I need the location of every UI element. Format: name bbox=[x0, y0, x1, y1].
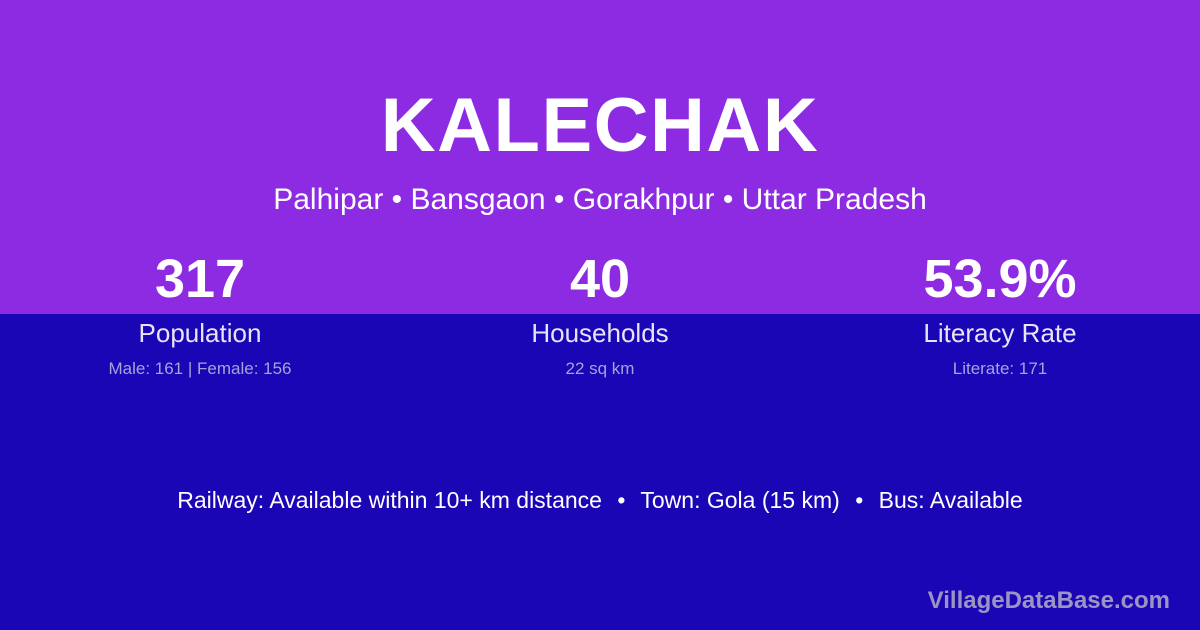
amenity-railway: Railway: Available within 10+ km distanc… bbox=[177, 487, 602, 513]
population-label: Population bbox=[139, 316, 262, 350]
village-info-card: KALECHAK Palhipar • Bansgaon • Gorakhpur… bbox=[0, 0, 1200, 630]
site-watermark: VillageDataBase.com bbox=[928, 586, 1170, 616]
literacy-rate-label: Literacy Rate bbox=[923, 316, 1076, 350]
amenities-summary: Railway: Available within 10+ km distanc… bbox=[0, 484, 1200, 516]
breadcrumb: Palhipar • Bansgaon • Gorakhpur • Uttar … bbox=[0, 180, 1200, 220]
literate-count: Literate: 171 bbox=[953, 356, 1048, 382]
stats-strip: 317 Population Male: 161 | Female: 156 4… bbox=[0, 244, 1200, 384]
page-title: KALECHAK bbox=[0, 82, 1200, 170]
households-value: 40 bbox=[570, 244, 630, 314]
literacy-rate-value: 53.9% bbox=[923, 244, 1076, 314]
population-value: 317 bbox=[155, 244, 245, 314]
area-value: 22 sq km bbox=[566, 356, 635, 382]
amenity-separator-2: • bbox=[846, 484, 872, 516]
stat-card-literacy: 53.9% Literacy Rate Literate: 171 bbox=[800, 244, 1200, 384]
population-breakdown: Male: 161 | Female: 156 bbox=[108, 356, 291, 382]
stat-card-households: 40 Households 22 sq km bbox=[400, 244, 800, 384]
stat-card-population: 317 Population Male: 161 | Female: 156 bbox=[0, 244, 400, 384]
amenity-town: Town: Gola (15 km) bbox=[640, 487, 839, 513]
amenity-bus: Bus: Available bbox=[879, 487, 1023, 513]
amenity-separator-1: • bbox=[608, 484, 634, 516]
households-label: Households bbox=[531, 316, 668, 350]
